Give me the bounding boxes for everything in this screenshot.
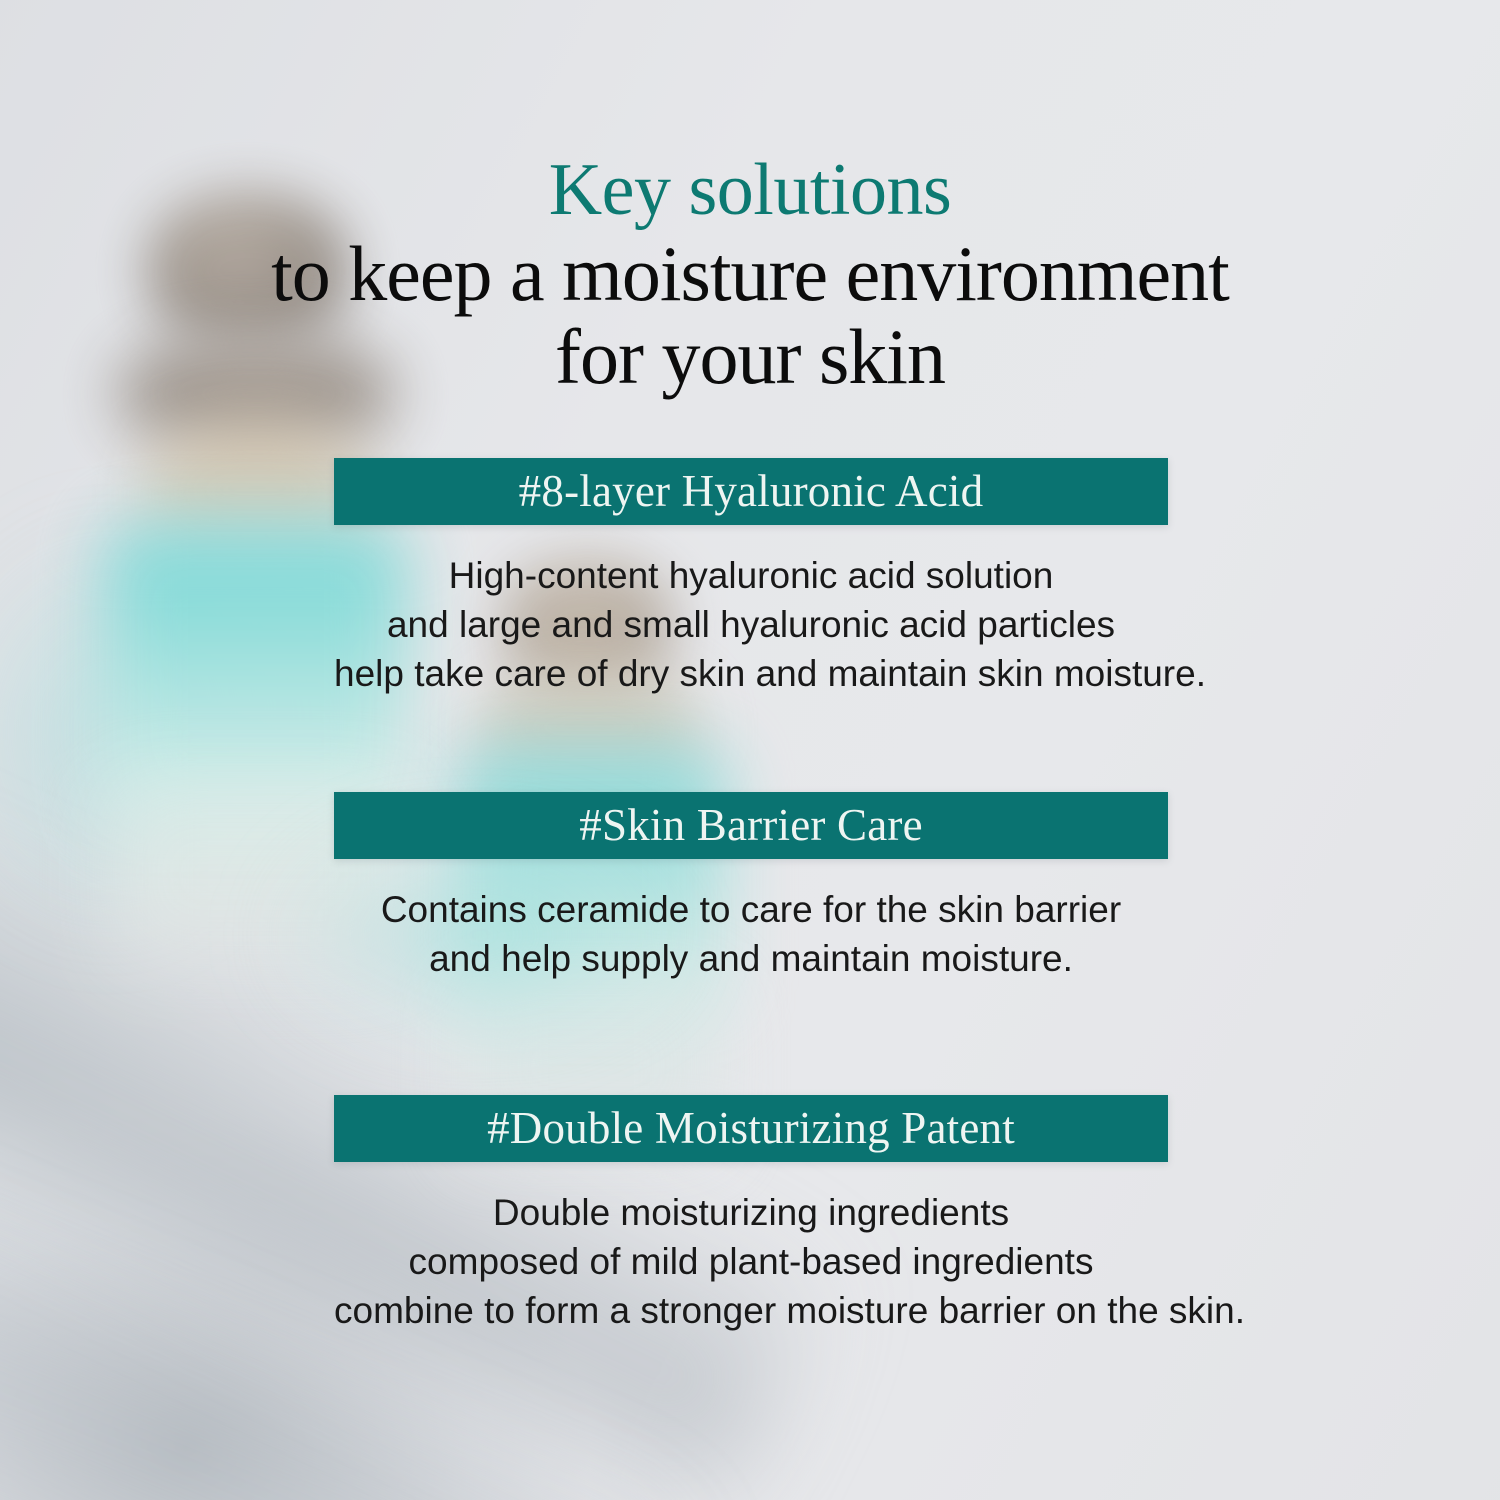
feature-banner-label: #8-layer Hyaluronic Acid: [519, 469, 984, 514]
product-feature-graphic: Key solutions to keep a moisture environ…: [0, 0, 1500, 1500]
feature-banner-label: #Skin Barrier Care: [579, 803, 923, 848]
feature-banner: #8-layer Hyaluronic Acid: [334, 458, 1168, 525]
feature-description: High-content hyaluronic acid solution an…: [334, 551, 1168, 698]
feature-section-double-moisturizing: #Double Moisturizing Patent Double moist…: [334, 1095, 1168, 1335]
feature-banner: #Skin Barrier Care: [334, 792, 1168, 859]
description-line: composed of mild plant-based ingredients: [334, 1237, 1168, 1286]
feature-description: Contains ceramide to care for the skin b…: [334, 885, 1168, 983]
content-layer: Key solutions to keep a moisture environ…: [0, 0, 1500, 1500]
description-line: help take care of dry skin and maintain …: [334, 649, 1168, 698]
feature-section-skin-barrier: #Skin Barrier Care Contains ceramide to …: [334, 792, 1168, 983]
description-line: Double moisturizing ingredients: [334, 1188, 1168, 1237]
feature-section-hyaluronic-acid: #8-layer Hyaluronic Acid High-content hy…: [334, 458, 1168, 698]
headline-line-1: Key solutions: [0, 152, 1500, 229]
headline-line-3: for your skin: [0, 316, 1500, 397]
feature-description: Double moisturizing ingredients composed…: [334, 1188, 1168, 1335]
description-line: High-content hyaluronic acid solution: [334, 551, 1168, 600]
feature-banner: #Double Moisturizing Patent: [334, 1095, 1168, 1162]
description-line: combine to form a stronger moisture barr…: [334, 1286, 1168, 1335]
feature-banner-label: #Double Moisturizing Patent: [487, 1106, 1015, 1151]
description-line: Contains ceramide to care for the skin b…: [334, 885, 1168, 934]
headline-line-2: to keep a moisture environment: [0, 233, 1500, 314]
page-title: Key solutions to keep a moisture environ…: [0, 152, 1500, 397]
description-line: and help supply and maintain moisture.: [334, 934, 1168, 983]
description-line: and large and small hyaluronic acid part…: [334, 600, 1168, 649]
